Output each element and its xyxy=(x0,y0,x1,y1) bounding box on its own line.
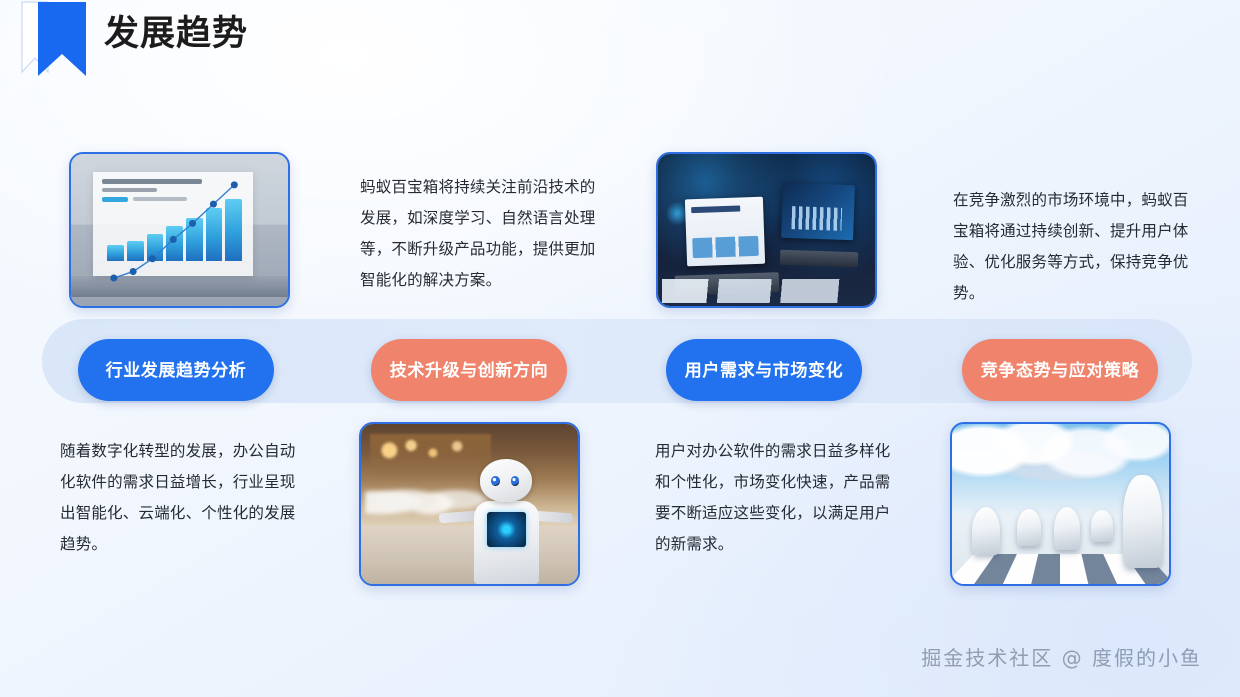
thumbnail-service-robot-photo xyxy=(359,422,580,586)
chart-trend-line xyxy=(93,172,254,308)
paragraph-tech-upgrade: 蚂蚁百宝箱将持续关注前沿技术的发展，如深度学习、自然语言处理等，不断升级产品功能… xyxy=(360,172,600,296)
paragraph-industry-trend: 随着数字化转型的发展，办公自动化软件的需求日益增长，行业呈现出智能化、云端化、个… xyxy=(60,436,308,560)
robot-eye-right xyxy=(511,476,520,486)
image-tech-workstation xyxy=(658,154,875,306)
paragraph-competition: 在竞争激烈的市场环境中，蚂蚁百宝箱将通过持续创新、提升用户体验、优化服务等方式，… xyxy=(953,185,1191,309)
pill-tech-upgrade[interactable]: 技术升级与创新方向 xyxy=(371,339,567,401)
tablet-screen-left xyxy=(685,197,765,267)
mall-floor xyxy=(361,526,578,584)
image-bar-chart-growth xyxy=(71,154,288,306)
watermark: 掘金技术社区 @ 度假的小鱼 xyxy=(921,642,1202,671)
chess-piece xyxy=(1017,509,1041,546)
chess-piece xyxy=(972,507,1000,555)
thumbnail-chess-board-photo xyxy=(950,422,1171,586)
chess-piece-king xyxy=(1123,475,1162,568)
ceiling-lights xyxy=(370,434,492,476)
pill-user-demand[interactable]: 用户需求与市场变化 xyxy=(666,339,862,401)
slide-header: 发展趋势 xyxy=(0,0,248,96)
desk-documents xyxy=(662,279,870,303)
image-chess-board xyxy=(952,424,1169,584)
chess-piece xyxy=(1091,510,1113,542)
page-title: 发展趋势 xyxy=(104,16,248,51)
image-service-robot xyxy=(361,424,578,584)
pill-competition[interactable]: 竞争态势与应对策略 xyxy=(962,339,1158,401)
robot-chest-screen xyxy=(487,512,526,547)
bookmark-icon xyxy=(14,0,86,80)
chess-piece xyxy=(1054,507,1080,550)
thumbnail-bar-chart-growth-photo xyxy=(69,152,290,308)
paragraph-user-demand: 用户对办公软件的需求日益多样化和个性化，市场变化快速，产品需要不断适应这些变化，… xyxy=(655,436,895,560)
laptop-screen-right xyxy=(781,183,854,240)
thumbnail-tech-workstation-photo xyxy=(656,152,877,308)
robot-eye-left xyxy=(491,476,500,486)
pill-industry-trend[interactable]: 行业发展趋势分析 xyxy=(78,339,274,401)
laptop-keyboard-right xyxy=(779,250,858,268)
slide-root: 发展趋势 xyxy=(0,0,1240,697)
robot-head xyxy=(480,459,532,502)
chart-panel xyxy=(93,172,254,275)
